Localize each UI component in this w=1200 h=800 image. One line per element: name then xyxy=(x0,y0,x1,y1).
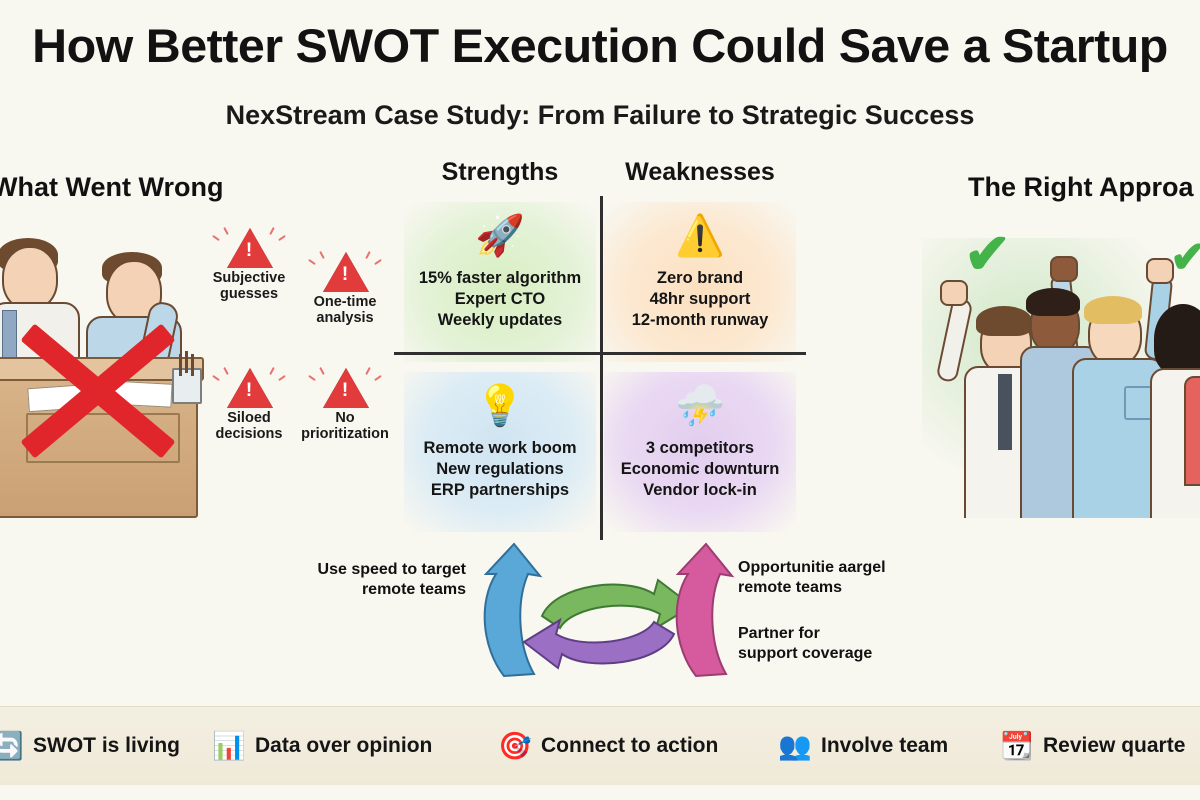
quadrant-items-opportunities: Remote work boom New regulations ERP par… xyxy=(404,438,596,500)
swot-matrix: Strengths 🚀 15% faster algorithm Expert … xyxy=(404,202,796,532)
warning-triangle-icon: ⚠️ xyxy=(604,216,796,256)
quadrant-item: Remote work boom xyxy=(404,438,596,459)
warning-item: ! Subjectiveguesses xyxy=(200,228,298,302)
warning-triangle-icon: ! xyxy=(227,368,271,408)
quadrant-title-strengths: Strengths xyxy=(404,158,596,187)
footer-principles-bar: 🔄 SWOT is living 📊 Data over opinion 🎯 C… xyxy=(0,706,1200,785)
footer-item-label: Involve team xyxy=(821,734,948,758)
people-group-icon: 👥 xyxy=(778,729,812,763)
person-hair xyxy=(1154,304,1200,374)
green-right-arrow xyxy=(542,580,692,628)
footer-item-connect-to-action[interactable]: 🎯 Connect to action xyxy=(498,729,718,763)
swot-quadrant-opportunities: 💡 Remote work boom New regulations ERP p… xyxy=(404,372,596,532)
calendar-icon: 📆 xyxy=(1000,729,1034,763)
person-hair xyxy=(1026,288,1080,316)
quadrant-item: Economic downturn xyxy=(604,459,796,480)
warning-label: One-timeanalysis xyxy=(296,294,394,326)
warning-label: Noprioritization xyxy=(296,410,394,442)
footer-item-swot-is-living[interactable]: 🔄 SWOT is living xyxy=(0,729,180,763)
quadrant-item: 48hr support xyxy=(604,289,796,310)
footer-item-label: Connect to action xyxy=(541,734,718,758)
quadrant-item: 3 competitors xyxy=(604,438,796,459)
quadrant-item: Zero brand xyxy=(604,268,796,289)
swot-quadrant-strengths: Strengths 🚀 15% faster algorithm Expert … xyxy=(404,202,596,362)
warning-triangle-icon: ! xyxy=(323,368,367,408)
pink-up-arrow xyxy=(677,544,732,676)
strategy-note-right-2: Partner for support coverage xyxy=(738,624,938,664)
warning-triangle-icon: ! xyxy=(227,228,271,268)
strategy-note-right-1: Opportunitie aargel remote teams xyxy=(738,558,938,598)
person-hair xyxy=(1084,296,1142,324)
quadrant-items-strengths: 15% faster algorithm Expert CTO Weekly u… xyxy=(404,268,596,330)
quadrant-item: Expert CTO xyxy=(404,289,596,310)
warning-item: ! Noprioritization xyxy=(296,368,394,442)
swot-quadrant-threats: ⛈️ 3 competitors Economic downturn Vendo… xyxy=(604,372,796,532)
failure-warnings-group: ! Subjectiveguesses ! One-timeanalysis !… xyxy=(196,228,402,478)
matrix-vertical-divider xyxy=(600,196,603,540)
swot-quadrant-weaknesses: Weaknesses ⚠️ Zero brand 48hr support 12… xyxy=(604,202,796,362)
infographic-canvas: How Better SWOT Execution Could Save a S… xyxy=(0,0,1200,800)
person-fist xyxy=(1050,256,1078,282)
section-heading-what-went-wrong: What Went Wrong xyxy=(0,172,223,203)
quadrant-item: 15% faster algorithm xyxy=(404,268,596,289)
quadrant-items-threats: 3 competitors Economic downturn Vendor l… xyxy=(604,438,796,500)
cycle-arrows-icon: 🔄 xyxy=(0,729,24,763)
quadrant-item: New regulations xyxy=(404,459,596,480)
person-head xyxy=(2,246,58,310)
footer-item-review-quarterly[interactable]: 📆 Review quarte xyxy=(1000,729,1185,763)
quadrant-item: Vendor lock-in xyxy=(604,480,796,501)
illustration-frustrated-team xyxy=(0,218,199,518)
person-hair xyxy=(976,306,1032,336)
red-top xyxy=(1184,376,1200,486)
illustration-celebrating-team: ✔ ✔ xyxy=(912,218,1200,518)
person-fist xyxy=(940,280,968,306)
bar-chart-icon: 📊 xyxy=(212,729,246,763)
check-mark-icon: ✔ xyxy=(1170,236,1200,280)
page-subtitle: NexStream Case Study: From Failure to St… xyxy=(0,100,1200,131)
lightbulb-icon: 💡 xyxy=(404,386,596,426)
section-heading-right-approach: The Right Approa xyxy=(968,172,1193,203)
check-mark-icon: ✔ xyxy=(964,226,1011,282)
warning-label: Siloeddecisions xyxy=(200,410,298,442)
quadrant-items-weaknesses: Zero brand 48hr support 12-month runway xyxy=(604,268,796,330)
warning-item: ! Siloeddecisions xyxy=(200,368,298,442)
blue-up-arrow xyxy=(485,544,540,676)
strategy-note-left: Use speed to target remote teams xyxy=(296,560,466,600)
rocket-icon: 🚀 xyxy=(404,216,596,256)
warning-item: ! One-timeanalysis xyxy=(296,252,394,326)
red-x-mark xyxy=(12,328,182,448)
quadrant-item: Weekly updates xyxy=(404,310,596,331)
footer-item-data-over-opinion[interactable]: 📊 Data over opinion xyxy=(212,729,432,763)
necktie xyxy=(998,374,1012,450)
quadrant-item: 12-month runway xyxy=(604,310,796,331)
warning-label: Subjectiveguesses xyxy=(200,270,298,302)
storm-cloud-icon: ⛈️ xyxy=(604,386,796,426)
page-title: How Better SWOT Execution Could Save a S… xyxy=(0,18,1200,73)
matrix-horizontal-divider xyxy=(394,352,806,355)
target-dart-icon: 🎯 xyxy=(498,729,532,763)
strategy-cycle-arrows xyxy=(430,540,770,680)
footer-item-label: Data over opinion xyxy=(255,734,432,758)
person-fist xyxy=(1146,258,1174,284)
quadrant-title-weaknesses: Weaknesses xyxy=(604,158,796,187)
warning-triangle-icon: ! xyxy=(323,252,367,292)
footer-item-label: SWOT is living xyxy=(33,734,180,758)
footer-item-label: Review quarte xyxy=(1043,734,1185,758)
quadrant-item: ERP partnerships xyxy=(404,480,596,501)
footer-item-involve-team[interactable]: 👥 Involve team xyxy=(778,729,948,763)
purple-left-arrow xyxy=(524,620,674,668)
